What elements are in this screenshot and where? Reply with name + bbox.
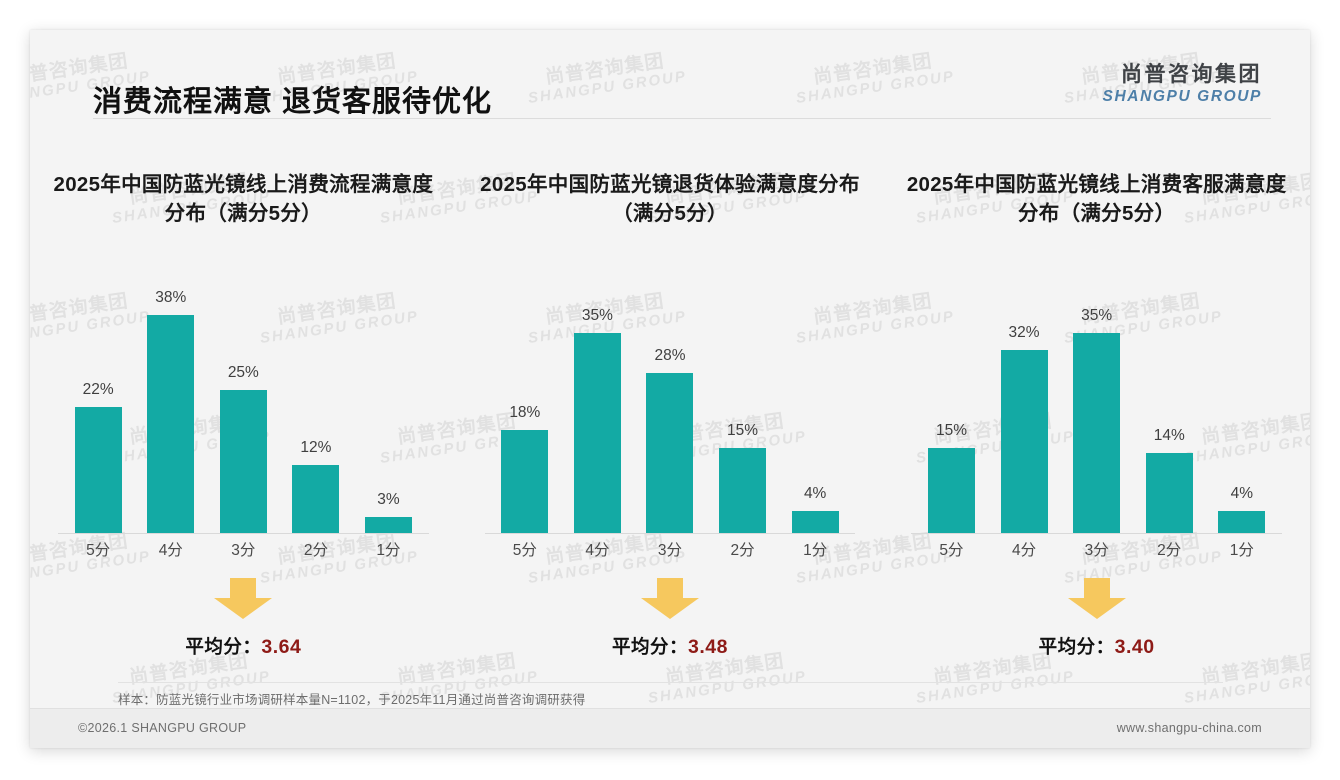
bar-series: 15%32%35%14%4% xyxy=(917,304,1275,534)
bar[interactable] xyxy=(292,465,339,534)
slide-header: 消费流程满意 退货客服待优化 尚普咨询集团 SHANGPU GROUP xyxy=(30,30,1310,118)
footer-website: www.shangpu-china.com xyxy=(1117,721,1262,735)
bar-value-label: 3% xyxy=(354,491,422,509)
bar-group: 28% xyxy=(636,304,704,534)
bar[interactable] xyxy=(1218,511,1265,534)
bar-group: 35% xyxy=(1063,304,1131,534)
chart-title: 2025年中国防蓝光镜线上消费客服满意度分布（满分5分） xyxy=(883,170,1310,228)
bar[interactable] xyxy=(719,448,766,534)
x-axis-line xyxy=(485,533,855,534)
brand-logo: 尚普咨询集团 SHANGPU GROUP xyxy=(1103,63,1262,105)
bar[interactable] xyxy=(1146,453,1193,534)
average-score-value: 3.64 xyxy=(261,636,301,658)
bar[interactable] xyxy=(501,430,548,534)
watermark-en: SHANGPU GROUP xyxy=(1183,669,1310,707)
bar[interactable] xyxy=(792,511,839,534)
x-axis-labels: 5分4分3分2分1分 xyxy=(491,538,849,568)
average-score-line: 平均分：3.40 xyxy=(883,633,1310,659)
average-score-block: 平均分：3.48 xyxy=(457,578,884,659)
x-axis-tick-label: 5分 xyxy=(491,538,559,568)
average-score-value: 3.40 xyxy=(1115,636,1155,658)
note-divider xyxy=(118,682,1223,683)
page-title: 消费流程满意 退货客服待优化 xyxy=(93,78,492,120)
x-axis-tick-label: 5分 xyxy=(64,538,132,568)
average-score-value: 3.48 xyxy=(688,636,728,658)
bar-value-label: 4% xyxy=(1208,485,1276,503)
bar-value-label: 28% xyxy=(636,347,704,365)
chart-panel-2: 2025年中国防蓝光镜退货体验满意度分布（满分5分）18%35%28%15%4%… xyxy=(457,134,884,654)
source-note: 样本：防蓝光镜行业市场调研样本量N=1102，于2025年11月通过尚普咨询调研… xyxy=(118,689,585,708)
chart-title: 2025年中国防蓝光镜退货体验满意度分布（满分5分） xyxy=(457,170,884,228)
bar-value-label: 15% xyxy=(709,422,777,440)
average-score-label: 平均分： xyxy=(1039,636,1115,657)
footer-copyright: ©2026.1 SHANGPU GROUP xyxy=(78,721,246,735)
bar[interactable] xyxy=(646,373,693,534)
x-axis-tick-label: 3分 xyxy=(1063,538,1131,568)
down-arrow-icon xyxy=(457,578,884,625)
bar[interactable] xyxy=(147,315,194,534)
bar-group: 32% xyxy=(990,304,1058,534)
x-axis-tick-label: 1分 xyxy=(354,538,422,568)
bar[interactable] xyxy=(928,448,975,534)
bar-value-label: 12% xyxy=(282,439,350,457)
watermark-en: SHANGPU GROUP xyxy=(647,669,808,707)
x-axis-tick-label: 5分 xyxy=(917,538,985,568)
bar-group: 4% xyxy=(781,304,849,534)
x-axis-tick-label: 4分 xyxy=(563,538,631,568)
x-axis-tick-label: 4分 xyxy=(990,538,1058,568)
chart-panel-1: 2025年中国防蓝光镜线上消费流程满意度分布（满分5分）22%38%25%12%… xyxy=(30,134,457,654)
chart-panel-3: 2025年中国防蓝光镜线上消费客服满意度分布（满分5分）15%32%35%14%… xyxy=(883,134,1310,654)
x-axis-tick-label: 2分 xyxy=(1135,538,1203,568)
charts-row: 2025年中国防蓝光镜线上消费流程满意度分布（满分5分）22%38%25%12%… xyxy=(30,134,1310,654)
bar-group: 4% xyxy=(1208,304,1276,534)
bar-group: 25% xyxy=(209,304,277,534)
bar-value-label: 32% xyxy=(990,324,1058,342)
down-arrow-icon xyxy=(30,578,457,625)
bar-value-label: 14% xyxy=(1135,427,1203,445)
brand-logo-en: SHANGPU GROUP xyxy=(1103,88,1262,105)
x-axis-tick-label: 4分 xyxy=(137,538,205,568)
x-axis-tick-label: 3分 xyxy=(209,538,277,568)
x-axis-tick-label: 1分 xyxy=(1208,538,1276,568)
x-axis-line xyxy=(911,533,1281,534)
bar-group: 18% xyxy=(491,304,559,534)
plot-area: 15%32%35%14%4% xyxy=(917,304,1275,534)
bar-value-label: 38% xyxy=(137,289,205,307)
average-score-label: 平均分： xyxy=(185,636,261,657)
bar-value-label: 4% xyxy=(781,485,849,503)
bar[interactable] xyxy=(1073,333,1120,534)
bar-group: 3% xyxy=(354,304,422,534)
bar-value-label: 25% xyxy=(209,364,277,382)
bar-group: 12% xyxy=(282,304,350,534)
bar[interactable] xyxy=(75,407,122,534)
plot-area: 22%38%25%12%3% xyxy=(64,304,422,534)
x-axis-labels: 5分4分3分2分1分 xyxy=(917,538,1275,568)
bar-group: 22% xyxy=(64,304,132,534)
bar-series: 22%38%25%12%3% xyxy=(64,304,422,534)
brand-logo-cn: 尚普咨询集团 xyxy=(1103,63,1262,87)
average-score-block: 平均分：3.40 xyxy=(883,578,1310,659)
bar[interactable] xyxy=(1001,350,1048,534)
plot-area: 18%35%28%15%4% xyxy=(491,304,849,534)
average-score-line: 平均分：3.64 xyxy=(30,633,457,659)
bar-value-label: 18% xyxy=(491,404,559,422)
bar-group: 14% xyxy=(1135,304,1203,534)
bar[interactable] xyxy=(220,390,267,534)
bar-value-label: 22% xyxy=(64,381,132,399)
watermark-en: SHANGPU GROUP xyxy=(915,669,1076,707)
average-score-line: 平均分：3.48 xyxy=(457,633,884,659)
chart-title: 2025年中国防蓝光镜线上消费流程满意度分布（满分5分） xyxy=(30,170,457,228)
x-axis-tick-label: 2分 xyxy=(709,538,777,568)
slide-footer: ©2026.1 SHANGPU GROUP www.shangpu-china.… xyxy=(30,708,1310,748)
bar[interactable] xyxy=(365,517,412,534)
bar-group: 15% xyxy=(709,304,777,534)
x-axis-tick-label: 1分 xyxy=(781,538,849,568)
bar-group: 35% xyxy=(563,304,631,534)
x-axis-tick-label: 3分 xyxy=(636,538,704,568)
bar-value-label: 35% xyxy=(563,307,631,325)
bar[interactable] xyxy=(574,333,621,534)
slide-card: 尚普咨询集团SHANGPU GROUP尚普咨询集团SHANGPU GROUP尚普… xyxy=(30,30,1310,748)
x-axis-line xyxy=(58,533,428,534)
average-score-block: 平均分：3.64 xyxy=(30,578,457,659)
down-arrow-icon xyxy=(883,578,1310,625)
bar-value-label: 35% xyxy=(1063,307,1131,325)
bar-group: 38% xyxy=(137,304,205,534)
bar-series: 18%35%28%15%4% xyxy=(491,304,849,534)
bar-group: 15% xyxy=(917,304,985,534)
average-score-label: 平均分： xyxy=(612,636,688,657)
x-axis-tick-label: 2分 xyxy=(282,538,350,568)
header-divider xyxy=(93,118,1271,119)
x-axis-labels: 5分4分3分2分1分 xyxy=(64,538,422,568)
bar-value-label: 15% xyxy=(917,422,985,440)
